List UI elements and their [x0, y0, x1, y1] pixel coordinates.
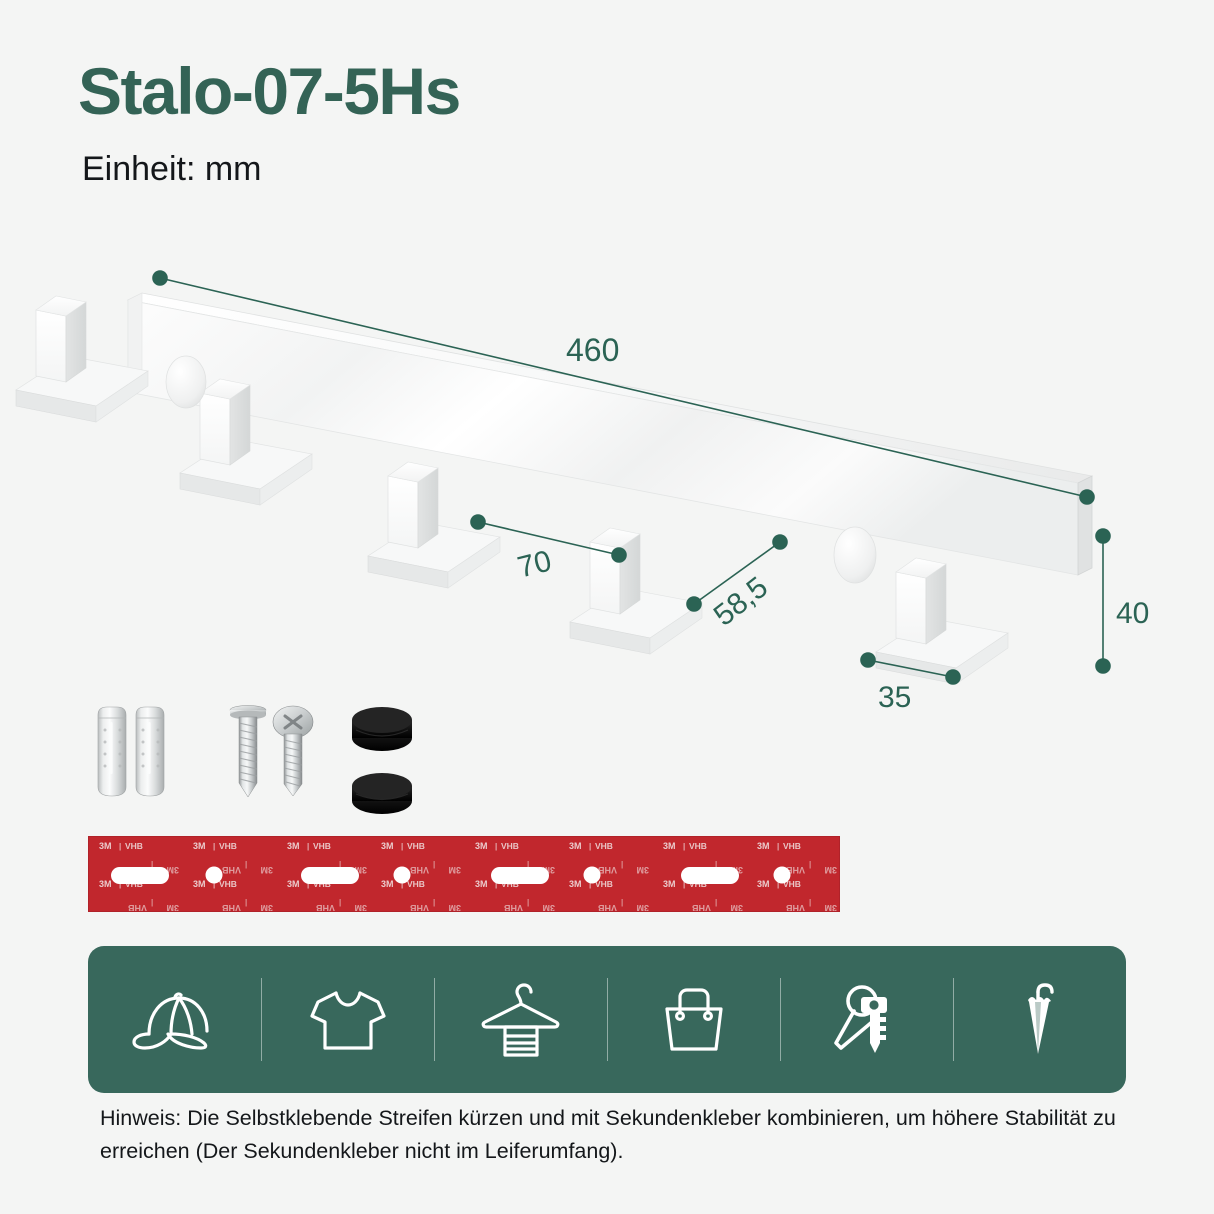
- feature-cell-hanger: [434, 946, 607, 1093]
- cap-icon: [127, 984, 223, 1056]
- knob-center: [834, 527, 876, 583]
- dimension-label-40: 40: [1116, 597, 1149, 631]
- feature-cell-tshirt: [261, 946, 434, 1093]
- wall-plug-1: [98, 707, 126, 796]
- footer-note: Hinweis: Die Selbstklebende Streifen kür…: [100, 1102, 1160, 1167]
- screw-long: [230, 706, 266, 798]
- keys-icon: [827, 981, 907, 1059]
- hook-4: [570, 528, 702, 654]
- wall-plug-2: [136, 707, 164, 796]
- umbrella-icon: [1005, 980, 1075, 1060]
- dimension-label-460: 460: [566, 332, 619, 369]
- rubber-pad-1: [352, 707, 412, 751]
- tshirt-icon: [306, 984, 390, 1056]
- feature-cell-cap: [88, 946, 261, 1093]
- rubber-pad-2: [352, 773, 412, 814]
- feature-icon-bar: [88, 946, 1126, 1093]
- handbag-icon: [654, 983, 734, 1057]
- adhesive-strip: 3M | VHB VHB 3M |: [88, 836, 840, 912]
- screw-short: [273, 706, 313, 796]
- feature-cell-umbrella: [953, 946, 1126, 1093]
- hardware-parts-group: [90, 698, 450, 818]
- unit-subtitle: Einheit: mm: [82, 152, 262, 186]
- hanger-icon: [476, 980, 566, 1060]
- page-title: Stalo-07-5Hs: [78, 58, 460, 124]
- product-illustration: [0, 230, 1214, 700]
- feature-cell-handbag: [607, 946, 780, 1093]
- dimension-label-35: 35: [878, 681, 911, 715]
- product-spec-page: Stalo-07-5Hs Einheit: mm: [0, 0, 1214, 1214]
- feature-cell-keys: [780, 946, 953, 1093]
